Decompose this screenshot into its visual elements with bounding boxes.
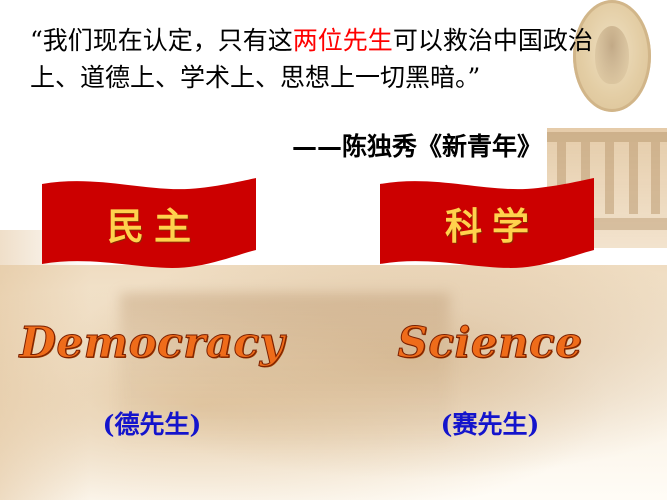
english-label-science: Science (340, 318, 640, 367)
background-photo (0, 265, 667, 500)
banner-label: 科学 (378, 196, 596, 250)
banner-democracy: 民主 (40, 178, 258, 278)
quote-highlight: 两位先生 (293, 26, 393, 55)
sub-label-science: (赛先生) (340, 405, 640, 441)
slide-canvas: “我们现在认定，只有这两位先生可以救治中国政治上、道德上、学术上、思想上一切黑暗… (0, 0, 667, 500)
quote-part-1: “我们现在认定，只有这 (30, 26, 293, 55)
quote-text: “我们现在认定，只有这两位先生可以救治中国政治上、道德上、学术上、思想上一切黑暗… (30, 22, 642, 96)
banner-label: 民主 (40, 196, 258, 250)
english-label-democracy: Democracy (2, 318, 302, 367)
sub-label-democracy: (德先生) (2, 405, 302, 441)
building-column (651, 142, 660, 214)
banner-science: 科学 (378, 178, 596, 278)
quote-attribution: ——陈独秀《新青年》 (292, 132, 644, 162)
